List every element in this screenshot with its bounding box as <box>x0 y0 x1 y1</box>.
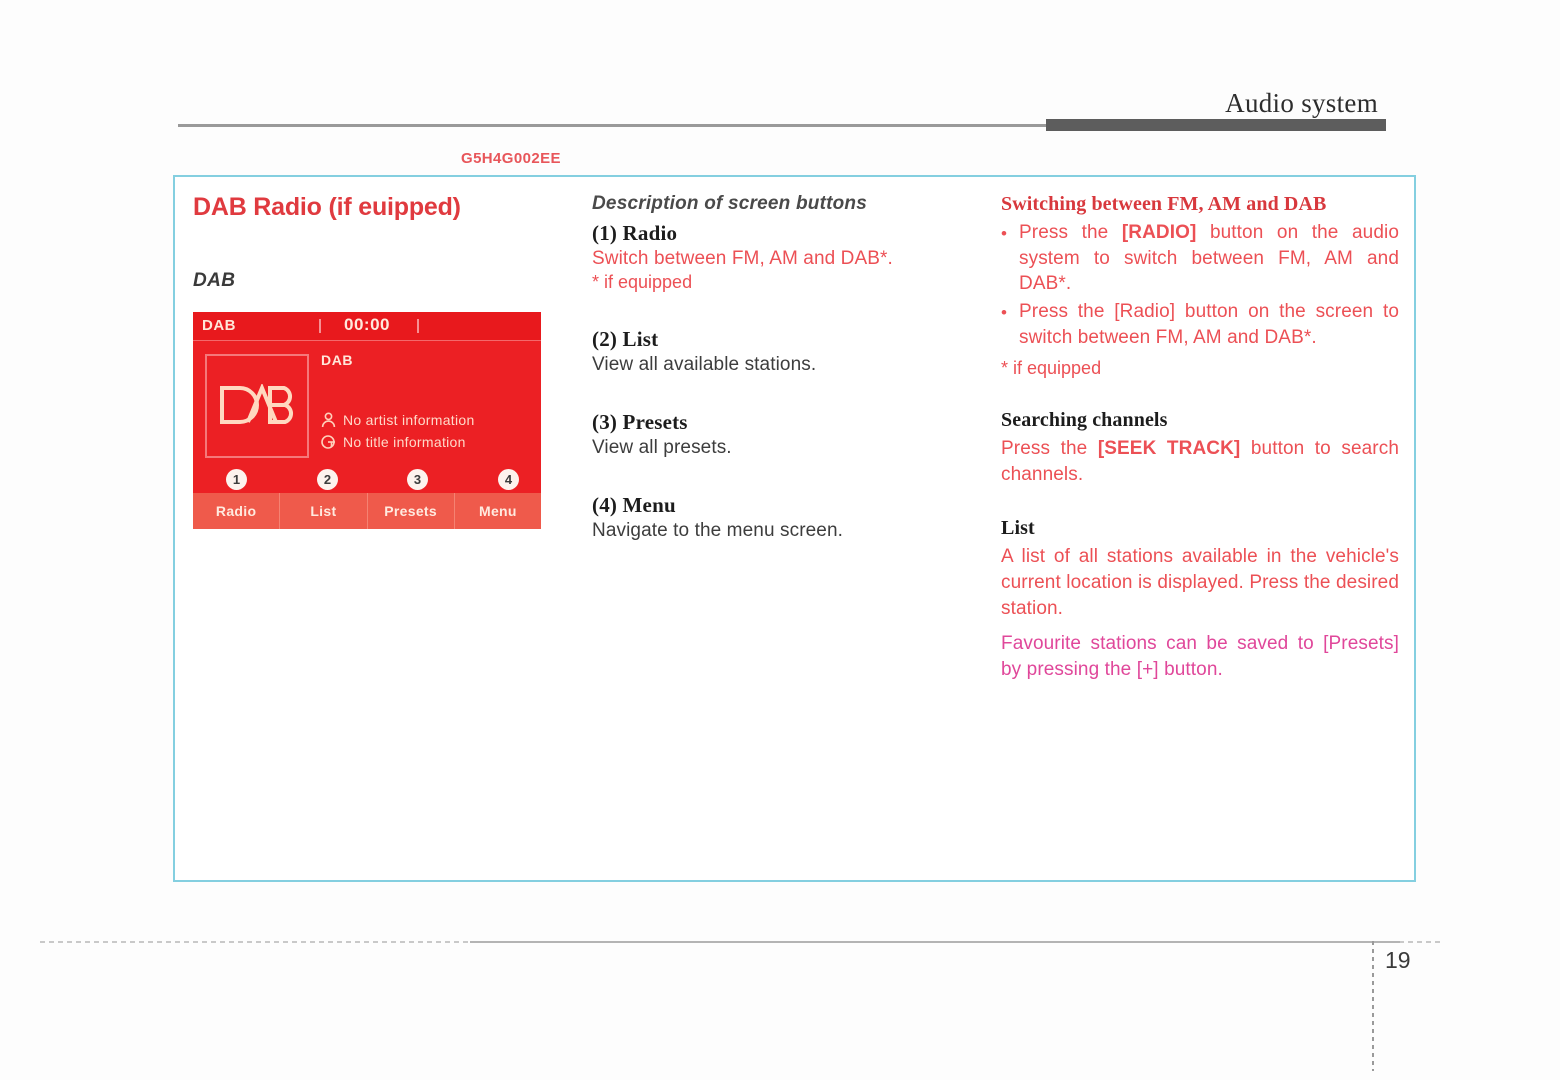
item-heading: (2) List <box>592 327 967 352</box>
title-info-row: No title information <box>321 434 535 450</box>
dab-logo-icon <box>218 384 296 426</box>
screen-button-radio[interactable]: Radio <box>193 493 280 529</box>
callout-number-3: 3 <box>407 469 428 490</box>
footer-margin-line <box>1372 941 1374 1071</box>
screen-body: DAB No artist information <box>193 340 541 469</box>
bullet-text-pre: Press the <box>1019 222 1122 243</box>
page-number: 19 <box>1385 947 1411 974</box>
screen-metadata: DAB No artist information <box>321 352 535 450</box>
item-heading: (3) Presets <box>592 410 967 435</box>
item-heading: (4) Menu <box>592 493 967 518</box>
column-right: Switching between FM, AM and DAB • Press… <box>1001 193 1399 683</box>
searching-text-pre: Press the <box>1001 438 1098 459</box>
item-footnote: * if equipped <box>592 272 967 293</box>
screen-button-bar: Radio List Presets Menu <box>193 493 541 529</box>
key-label-radio-hard: [RADIO] <box>1122 222 1197 243</box>
screen-button-callouts: 1 2 3 4 <box>193 469 541 493</box>
spacer <box>1001 379 1399 409</box>
list-heading: List <box>1001 517 1399 540</box>
spacer <box>592 459 967 493</box>
screen-button-menu[interactable]: Menu <box>455 493 541 529</box>
switching-bullet-2: • Press the [Radio] button on the screen… <box>1001 299 1399 350</box>
screen-station-name: DAB <box>321 352 535 368</box>
item-body: View all presets. <box>592 437 967 459</box>
button-description-2: (2) List View all available stations. <box>592 327 967 376</box>
bullet-icon: • <box>1001 220 1019 297</box>
bullet-text: Press the [Radio] button on the screen t… <box>1019 299 1399 350</box>
person-icon <box>321 412 336 428</box>
switching-heading: Switching between FM, AM and DAB <box>1001 193 1399 216</box>
status-separator-tick <box>417 319 419 333</box>
column-left: DAB Radio (if euipped) DAB DAB 00:00 <box>193 193 578 529</box>
item-body: View all available stations. <box>592 354 967 376</box>
callout-number-1: 1 <box>226 469 247 490</box>
column-middle: Description of screen buttons (1) Radio … <box>592 193 967 542</box>
searching-text: Press the [SEEK TRACK] button to search … <box>1001 436 1399 487</box>
item-body: Switch between FM, AM and DAB*. <box>592 248 967 270</box>
content-panel: DAB Radio (if euipped) DAB DAB 00:00 <box>173 175 1416 882</box>
figure-label: DAB <box>193 270 578 292</box>
artist-info-text: No artist information <box>343 412 475 428</box>
searching-heading: Searching channels <box>1001 409 1399 432</box>
middle-heading: Description of screen buttons <box>592 193 967 215</box>
footer-rule <box>470 941 1400 943</box>
radio-screen-illustration: DAB 00:00 <box>193 312 541 529</box>
page-header-title: Audio system <box>1225 88 1378 119</box>
screen-status-bar: DAB 00:00 <box>193 312 541 341</box>
key-label-radio-screen: [Radio] <box>1114 301 1175 322</box>
callout-number-4: 4 <box>498 469 519 490</box>
screen-button-list[interactable]: List <box>280 493 367 529</box>
key-label-seek-track: [SEEK TRACK] <box>1098 438 1241 459</box>
item-body: Navigate to the menu screen. <box>592 520 967 542</box>
switching-footnote: * if equipped <box>1001 358 1399 379</box>
document-page: Audio system G5H4G002EE DAB Radio (if eu… <box>0 0 1560 1080</box>
status-clock: 00:00 <box>193 315 541 335</box>
music-note-icon <box>321 434 336 450</box>
album-art-placeholder <box>205 354 309 458</box>
button-description-3: (3) Presets View all presets. <box>592 410 967 459</box>
button-description-1: (1) Radio Switch between FM, AM and DAB*… <box>592 221 967 293</box>
spacer <box>592 376 967 410</box>
list-paragraph-2: Favourite stations can be saved to [Pres… <box>1001 631 1399 682</box>
header-accent-bar <box>1046 119 1386 131</box>
button-description-4: (4) Menu Navigate to the menu screen. <box>592 493 967 542</box>
item-heading: (1) Radio <box>592 221 967 246</box>
artist-info-row: No artist information <box>321 412 535 428</box>
figure-code: G5H4G002EE <box>461 150 561 167</box>
page-title: DAB Radio (if euipped) <box>193 193 578 222</box>
spacer <box>1001 487 1399 517</box>
screen-button-presets[interactable]: Presets <box>368 493 455 529</box>
spacer <box>592 293 967 327</box>
list-paragraph-1: A list of all stations available in the … <box>1001 544 1399 621</box>
switching-bullet-1: • Press the [RADIO] button on the audio … <box>1001 220 1399 297</box>
bullet-icon: • <box>1001 299 1019 350</box>
callout-number-2: 2 <box>317 469 338 490</box>
bullet-text-pre: Press the <box>1019 301 1114 322</box>
bullet-text: Press the [RADIO] button on the audio sy… <box>1019 220 1399 297</box>
title-info-text: No title information <box>343 434 466 450</box>
